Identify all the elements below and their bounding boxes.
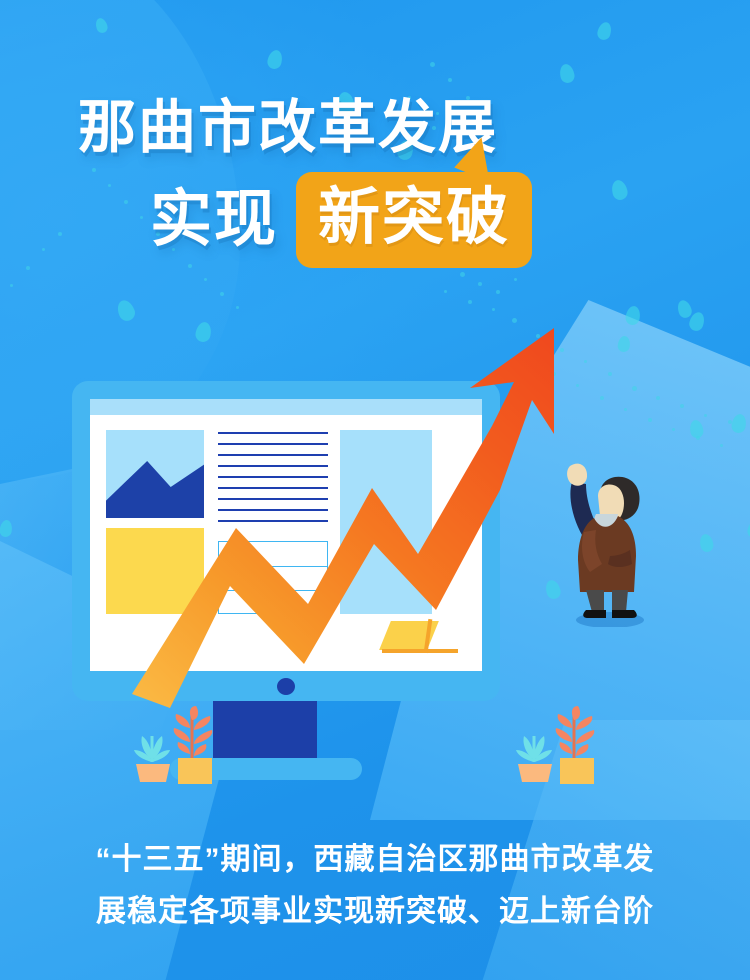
- plant-coral-tall: [174, 706, 213, 784]
- person-raising-arm-illustration: [548, 452, 660, 627]
- droplet-icon: [596, 21, 613, 42]
- caption-line-1: “十三五”期间，西藏自治区那曲市改革发: [0, 834, 750, 886]
- droplet-icon: [698, 533, 714, 553]
- droplet-icon: [266, 49, 284, 71]
- arrow-path: [132, 328, 554, 708]
- dot-icon: [460, 272, 465, 277]
- highlight-badge-label: 新突破: [318, 183, 510, 252]
- droplet-icon: [94, 17, 109, 35]
- dot-icon: [468, 300, 472, 304]
- droplet-icon: [746, 519, 750, 540]
- dot-icon: [680, 404, 684, 408]
- potted-plants-right: [500, 706, 618, 792]
- person-leg-right: [612, 590, 628, 612]
- person-shoe-right: [612, 610, 637, 618]
- droplet-icon: [687, 310, 706, 332]
- dot-icon: [672, 428, 675, 431]
- person-leg-left: [586, 590, 604, 612]
- dot-icon: [430, 62, 435, 67]
- droplet-icon: [0, 519, 13, 538]
- dot-icon: [496, 290, 500, 294]
- dot-icon: [704, 414, 707, 417]
- dot-icon: [648, 418, 652, 422]
- dot-icon: [656, 396, 660, 400]
- plant-cyan-small: [134, 736, 170, 782]
- dot-icon: [696, 436, 700, 440]
- poster-title-block: 那曲市改革发展 实现 新突破: [0, 96, 750, 268]
- plant-coral-tall-right: [556, 706, 595, 784]
- title-row-secondary: 实现 新突破: [0, 172, 750, 268]
- poster-caption: “十三五”期间，西藏自治区那曲市改革发 展稳定各项事业实现新突破、迈上新台阶: [0, 834, 750, 938]
- droplet-icon: [558, 63, 576, 84]
- dot-icon: [10, 284, 13, 287]
- title-line-secondary: 实现: [150, 182, 278, 258]
- dot-icon: [514, 278, 517, 281]
- dot-icon: [478, 282, 482, 286]
- title-line-primary: 那曲市改革发展: [0, 96, 750, 160]
- droplet-icon: [689, 419, 705, 439]
- droplet-icon: [676, 298, 694, 319]
- droplet-icon: [115, 298, 138, 323]
- dot-icon: [444, 290, 447, 293]
- dot-icon: [728, 420, 732, 424]
- caption-line-2: 展稳定各项事业实现新突破、迈上新台阶: [0, 886, 750, 938]
- title-badge-wrapper: 新突破: [296, 172, 532, 268]
- dot-icon: [720, 444, 723, 447]
- person-fist: [567, 464, 587, 486]
- droplet-icon: [730, 413, 748, 434]
- dot-icon: [204, 278, 207, 281]
- person-shoe-left: [583, 610, 606, 618]
- dot-icon: [448, 78, 452, 82]
- highlight-badge: 新突破: [296, 172, 532, 268]
- dot-icon: [236, 306, 239, 309]
- dot-icon: [492, 308, 495, 311]
- potted-plants-left: [118, 706, 236, 792]
- infographic-poster: 那曲市改革发展 实现 新突破: [0, 0, 750, 980]
- dot-icon: [220, 292, 224, 296]
- plant-cyan-small-right: [516, 736, 552, 782]
